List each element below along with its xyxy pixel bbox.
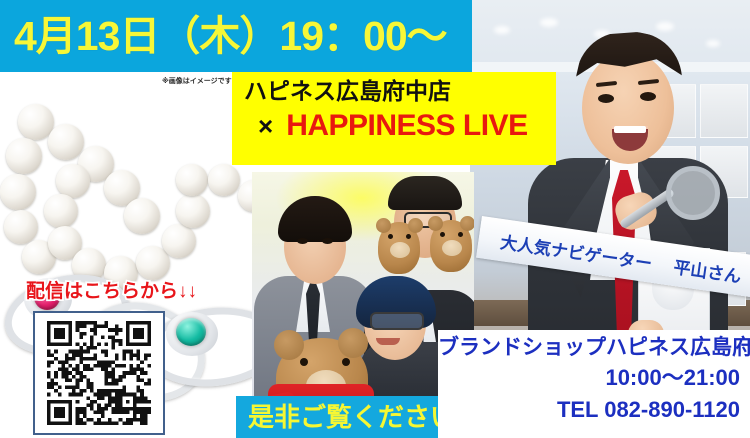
event-collab-row: × HAPPINESS LIVE — [244, 111, 556, 141]
teeth — [614, 126, 646, 133]
live-sale-poster: 4月13日（木）19：00～ ※画像はイメージです ハピネス広島府中店 × HA… — [0, 0, 750, 438]
eye — [640, 92, 656, 101]
shop-hours: 10:00～21:00 — [438, 362, 740, 394]
pearl — [176, 194, 210, 228]
pearl — [48, 124, 84, 160]
magnifying-glass-icon — [666, 166, 720, 220]
eye — [322, 238, 333, 244]
qr-code-frame[interactable] — [33, 311, 165, 435]
headline-banner: 4月13日（木）19：00～ — [0, 0, 472, 72]
event-live-name: HAPPINESS LIVE — [286, 111, 527, 141]
staff-hair — [278, 196, 352, 242]
event-title-box: ハピネス広島府中店 × HAPPINESS LIVE — [232, 72, 556, 165]
pearl — [4, 210, 38, 244]
mouth — [376, 338, 400, 345]
pearl — [0, 174, 36, 210]
navigator-name: 平山さん — [672, 253, 743, 287]
pearl — [124, 198, 160, 234]
event-datetime: 4月13日（木）19：00～ — [14, 16, 447, 57]
pearl — [44, 194, 78, 228]
qr-code-icon[interactable] — [47, 321, 151, 425]
glasses-icon — [370, 312, 424, 330]
pearl — [162, 224, 196, 258]
cross-icon: × — [258, 113, 273, 139]
stream-link-label: 配信はこちらから↓↓ — [26, 276, 197, 303]
pearl — [6, 138, 42, 174]
image-disclaimer: ※画像はイメージです — [162, 76, 232, 86]
pearl — [176, 164, 208, 196]
shop-info-panel: ブランドショップハピネス広島府中店 10:00～21:00 TEL 082-89… — [438, 330, 750, 438]
call-to-action-banner: 是非ご覧ください☆ — [236, 396, 472, 438]
shop-telephone[interactable]: TEL 082-890-1120 — [438, 394, 740, 426]
emerald-gem — [176, 318, 206, 346]
shop-name: ブランドショップハピネス広島府中店 — [438, 335, 740, 362]
eye — [297, 238, 308, 244]
staff-hair — [388, 176, 462, 210]
pearl — [56, 164, 90, 198]
pearl — [208, 164, 240, 196]
ceiling-light-icon — [494, 26, 510, 34]
eye — [598, 94, 614, 103]
event-store-name: ハピネス広島府中店 — [244, 77, 556, 106]
